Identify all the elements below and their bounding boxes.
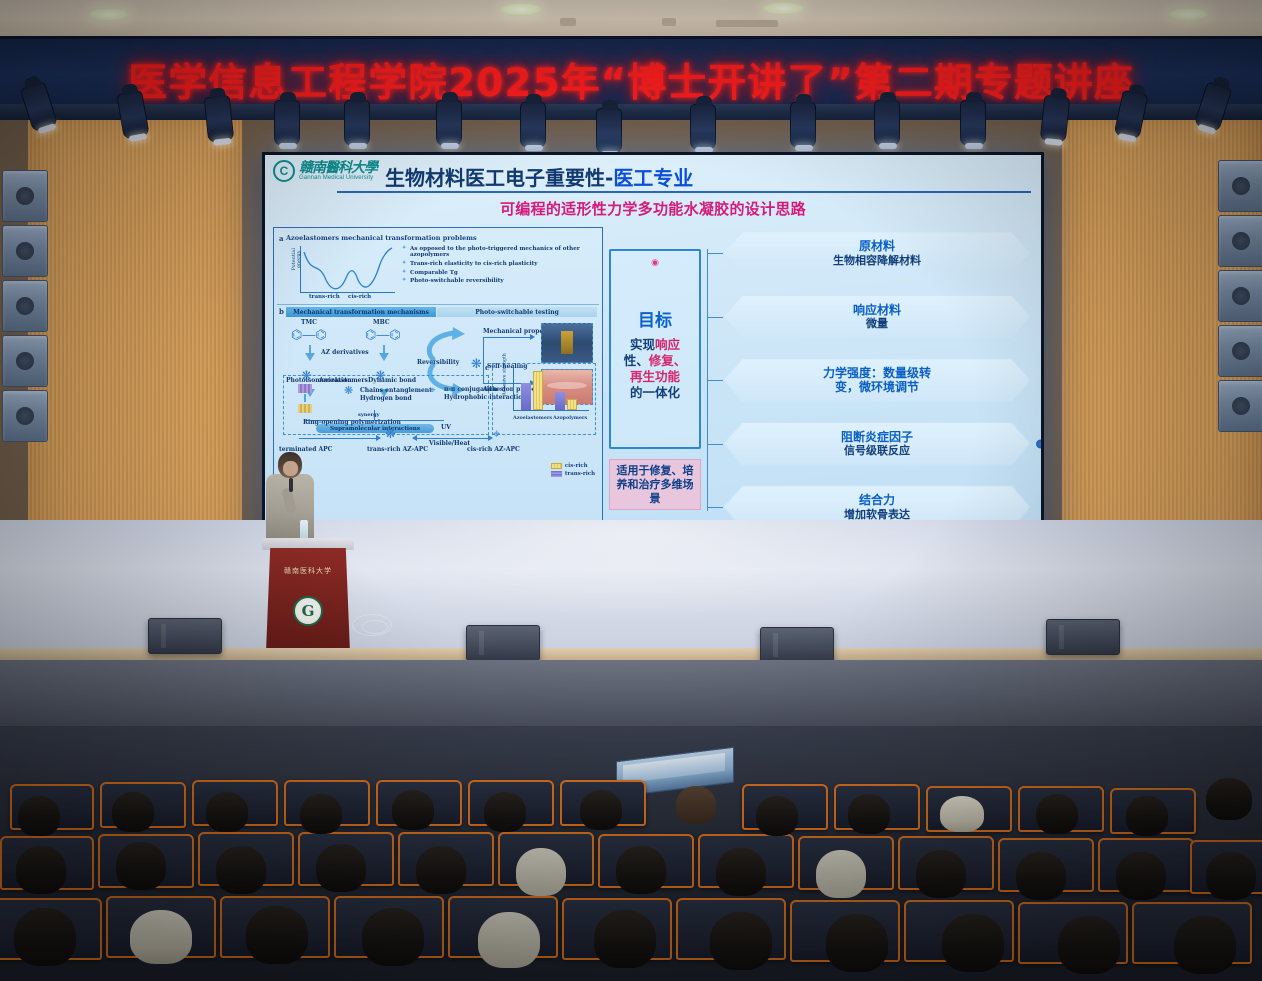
stage-spotlight (596, 108, 622, 154)
target-line1-a: 实现 (630, 337, 655, 352)
node-chains-entanglement: Chains entanglement (360, 387, 432, 394)
pillars-column: 原材料 生物相容降解材料 响应材料 微量 力 (707, 227, 1033, 533)
chart-legend: cis-rich trans-rich (551, 463, 595, 479)
audience-head (478, 912, 540, 968)
pillar-detail: 变，微环境调节 (835, 380, 919, 394)
molecule-icon: ⌖ (430, 386, 436, 396)
pillar-connector (707, 507, 723, 508)
pillar-row-4: 阻断炎症因子 信号级联反应 (723, 422, 1031, 466)
audience-head (362, 908, 424, 966)
panel-a-marker-trans: trans-rich (309, 294, 340, 300)
slide-body: a Azoelastomers mechanical transformatio… (273, 227, 1033, 533)
network-icon: ❋ (471, 357, 482, 370)
pillar-hex-raw-material[interactable]: 原材料 生物相容降解材料 (723, 231, 1031, 275)
bar-azopolymers-trans (555, 392, 565, 410)
panel-a-letter: a (279, 234, 284, 243)
node-uv: UV (441, 424, 451, 431)
ceiling-vent (716, 20, 778, 27)
ceiling-light (762, 2, 804, 15)
energy-curve (300, 246, 395, 294)
node-dynamic-bond: Dynamic bond (368, 377, 416, 384)
node-hydrogen-bond: Hydrogen bond (360, 395, 412, 402)
audience-head (756, 796, 798, 836)
pillar-row-1: 原材料 生物相容降解材料 (723, 231, 1031, 275)
audience-head (1206, 778, 1252, 820)
stage-front-panel (0, 660, 1262, 726)
audience-head (942, 914, 1004, 972)
pillar-title: 结合力 (859, 493, 895, 507)
location-pin-icon: ◉ (651, 257, 659, 268)
node-photoisomerization: Photoisomerization (286, 377, 352, 384)
podium: 赣南医科大学 G (266, 538, 350, 658)
panel-a-bullet: Trans-rich elasticity to cis-rich plasti… (402, 261, 597, 267)
slide-subtitle: 可编程的适形性力学多功能水凝胶的设计思路 (265, 198, 1041, 219)
audience-head (1126, 796, 1168, 836)
ceiling-vent (662, 18, 676, 26)
ceiling-light (1168, 8, 1210, 21)
molecule-icon: ⌖ (493, 427, 500, 440)
audience-head (484, 792, 526, 832)
audience-head (1116, 852, 1166, 900)
node-pi-conjugation: π-π conjugation (444, 386, 497, 393)
audience-head (848, 794, 890, 834)
panel-a-marker-cis: cis-rich (348, 294, 371, 300)
legend-label-trans: trans-rich (565, 471, 595, 477)
slide-title-accent: 医工专业 (613, 166, 693, 190)
stage-monitor-speaker (760, 627, 834, 663)
pillar-connector (707, 317, 723, 318)
projection-screen: 赣南醫科大學 Gannan Medical University 生物材料医工电… (262, 152, 1044, 542)
microphone-icon (289, 478, 293, 492)
pillar-hex-mechanical-strength[interactable]: 力学强度：数量级转 变，微环境调节 (723, 358, 1031, 402)
panel-c-letter: c (485, 363, 489, 372)
audience-head (1206, 852, 1256, 900)
university-logo: 赣南醫科大學 Gannan Medical University (273, 160, 377, 182)
panel-c-y-axis-label: Adhesive strength (504, 352, 509, 396)
node-ring-opening: Ring-opening polymerization (303, 419, 401, 426)
pillar-title: 响应材料 (853, 303, 901, 317)
panel-b-tab-right: Photo-switchable testing (437, 307, 597, 317)
audience-head (112, 792, 154, 832)
stage-spotlight (436, 100, 462, 146)
stage-spotlight (874, 100, 900, 146)
audience-head (1016, 852, 1066, 900)
audience-head (1058, 916, 1120, 974)
molecule-icon: ⌬—⌬ (365, 328, 401, 341)
figure-panel: a Azoelastomers mechanical transformatio… (273, 227, 603, 533)
audience-head (206, 792, 248, 832)
stage-spotlight (344, 100, 370, 146)
target-line4: 的一体化 (630, 385, 680, 400)
target-heading: 目标 (616, 306, 694, 331)
bar-azoelastomers-cis (533, 371, 543, 410)
panel-b-letter: b (279, 307, 284, 316)
down-arrow-icon (305, 353, 315, 361)
pillar-hex-inflammation-block[interactable]: 阻断炎症因子 信号级联反应 (723, 422, 1031, 466)
audience-head-with-cap (940, 796, 984, 832)
audience-head (392, 790, 434, 830)
audience-head (594, 910, 656, 968)
title-underline (337, 191, 1031, 193)
pillar-detail: 信号级联反应 (844, 444, 910, 457)
network-icon: ❋ (344, 386, 353, 397)
audience-head (416, 846, 466, 894)
ceiling-vent (560, 18, 576, 26)
pillar-title: 力学强度：数量级转 (823, 366, 931, 380)
stage-monitor-speaker (148, 618, 222, 654)
slide-title-main: 生物材料医工电子重要性- (385, 166, 613, 190)
target-box: ◉ 目标 实现响应 性、修复、 再生功能 的一体化 (609, 249, 701, 449)
right-arrow-icon (376, 435, 381, 441)
line-array-speaker-left (2, 170, 48, 442)
led-banner-text: 医学信息工程学院2025年“博士开讲了”第二期专题讲座 (0, 52, 1262, 108)
stage-monitor-speaker (1046, 619, 1120, 655)
reaction-scheme-row: Ring-opening polymerization ❋ UV Visible… (281, 419, 595, 453)
node-synergy: synergy (358, 412, 380, 418)
pillar-title: 原材料 (859, 239, 895, 253)
audience-head (516, 848, 566, 896)
molecule-icon: ⌬—⌬ (291, 328, 327, 341)
circle-c-logo-icon (273, 160, 295, 182)
lecture-hall-photo: 医学信息工程学院2025年“博士开讲了”第二期专题讲座 赣南醫科大學 Ganna… (0, 0, 1262, 981)
audience-head-with-cap (130, 910, 192, 964)
cable-coil (362, 620, 388, 634)
emblem-letter: G (302, 602, 315, 620)
cis-chain-icon (298, 404, 312, 413)
target-line2-b: 修复、 (649, 353, 687, 368)
pillar-detail: 增加软骨表达 (844, 508, 910, 521)
panel-a: a Azoelastomers mechanical transformatio… (277, 231, 599, 305)
panel-a-bullet: Photo-switchable reversibility (402, 278, 597, 284)
legend-swatch-trans (551, 471, 562, 477)
audience-head (676, 786, 716, 824)
stage-spotlight (274, 100, 300, 146)
panel-a-bullet: As opposed to the photo-triggered mechan… (402, 246, 597, 258)
podium-label: 赣南医科大学 (284, 566, 332, 576)
stage-spotlight (960, 100, 986, 146)
left-arrow-icon (412, 435, 417, 441)
audience-head (216, 846, 266, 894)
audience-head (316, 844, 366, 892)
panel-b-tabs: Mechanical transformation mechanisms Pho… (286, 307, 599, 317)
target-column: ◉ 目标 实现响应 性、修复、 再生功能 的一体化 适用于修复、培养和治疗多维场… (609, 227, 701, 533)
stage-spotlight (690, 104, 716, 150)
target-line1-b: 响应 (655, 337, 680, 352)
node-reversibility: Reversibility (417, 359, 459, 366)
scene-note-box: 适用于修复、培养和治疗多维场景 (609, 459, 701, 510)
pillar-connector (707, 253, 723, 254)
presentation-slide: 赣南醫科大學 Gannan Medical University 生物材料医工电… (265, 155, 1041, 539)
mechanical-test-photo (541, 323, 593, 363)
line-array-speaker-right (1218, 160, 1262, 432)
pillar-title: 阻断炎症因子 (841, 430, 913, 444)
podium-body: 赣南医科大学 G (266, 548, 350, 652)
audience-head (580, 790, 622, 830)
stage-spotlight (790, 102, 816, 148)
audience-head (710, 912, 772, 970)
node-tmc: TMC (301, 319, 317, 326)
slide-corner-dot-icon (1036, 439, 1041, 448)
audience-head (916, 850, 966, 898)
adhesive-strength-chart: Adhesive strength Azoelastomers Azopolym… (493, 364, 595, 420)
audience-head (816, 850, 866, 898)
panel-a-bullet: Comparable Tg (402, 270, 597, 276)
panel-a-bullet-list: As opposed to the photo-triggered mechan… (402, 244, 597, 300)
node-az-derivatives: AZ derivatives (321, 349, 369, 356)
stage-monitor-speaker (466, 625, 540, 661)
audience-head (16, 846, 66, 894)
truss-bar (0, 104, 1262, 120)
legend-label-cis: cis-rich (565, 463, 588, 469)
audience-head (14, 908, 76, 966)
stage-spotlight (204, 95, 235, 143)
audience-head (18, 796, 60, 836)
legend-swatch-cis (551, 463, 562, 469)
trans-chain-icon (298, 384, 312, 393)
node-visible-heat: Visible/Heat (429, 440, 470, 447)
pillar-detail: 生物相容降解材料 (833, 254, 921, 267)
audience-head (300, 794, 342, 834)
logo-english-name: Gannan Medical University (299, 175, 377, 182)
audience-head (616, 846, 666, 894)
bar-azoelastomers-trans (521, 383, 531, 410)
ceiling-light (500, 3, 542, 16)
potential-energy-plot: Potential energy trans-rich cis-rich (286, 244, 398, 300)
university-emblem-icon: G (293, 596, 323, 626)
pillar-row-2: 响应材料 微量 (723, 295, 1031, 339)
audience-head (716, 848, 766, 896)
audience-head (246, 906, 308, 964)
audience-head (1036, 794, 1078, 834)
pillar-detail: 微量 (866, 317, 888, 330)
audience-head (116, 842, 166, 890)
pillar-connector (707, 380, 723, 381)
logo-chinese-name: 赣南醫科大學 (299, 161, 377, 175)
target-line3: 再生功能 (630, 369, 680, 384)
audience-head (1174, 916, 1236, 974)
node-trans-rich-apc: trans-rich AZ-APC (367, 446, 428, 453)
stage-spotlight (1040, 95, 1071, 143)
target-line2-a: 性、 (624, 353, 649, 368)
pillar-connector (707, 444, 723, 445)
target-text: 实现响应 性、修复、 再生功能 的一体化 (616, 337, 694, 401)
pillar-hex-responsive-material[interactable]: 响应材料 微量 (723, 295, 1031, 339)
slide-header: 赣南醫科大學 Gannan Medical University 生物材料医工电… (265, 155, 1041, 195)
panel-b: b Mechanical transformation mechanisms P… (277, 305, 599, 455)
down-arrow-icon (379, 353, 389, 361)
slide-title: 生物材料医工电子重要性-医工专业 (385, 160, 693, 191)
panel-b-tab-left: Mechanical transformation mechanisms (286, 307, 436, 317)
stage-spotlight (520, 102, 546, 148)
ceiling-light (88, 8, 130, 21)
pillar-row-3: 力学强度：数量级转 变，微环境调节 (723, 358, 1031, 402)
node-cis-rich-apc: cis-rich AZ-APC (467, 446, 520, 453)
panel-a-title: Azoelastomers mechanical transformation … (286, 234, 597, 242)
audience-head (826, 914, 888, 972)
bar-azopolymers-cis (567, 399, 577, 410)
network-icon: ❋ (385, 427, 396, 440)
node-mbc: MBC (373, 319, 390, 326)
